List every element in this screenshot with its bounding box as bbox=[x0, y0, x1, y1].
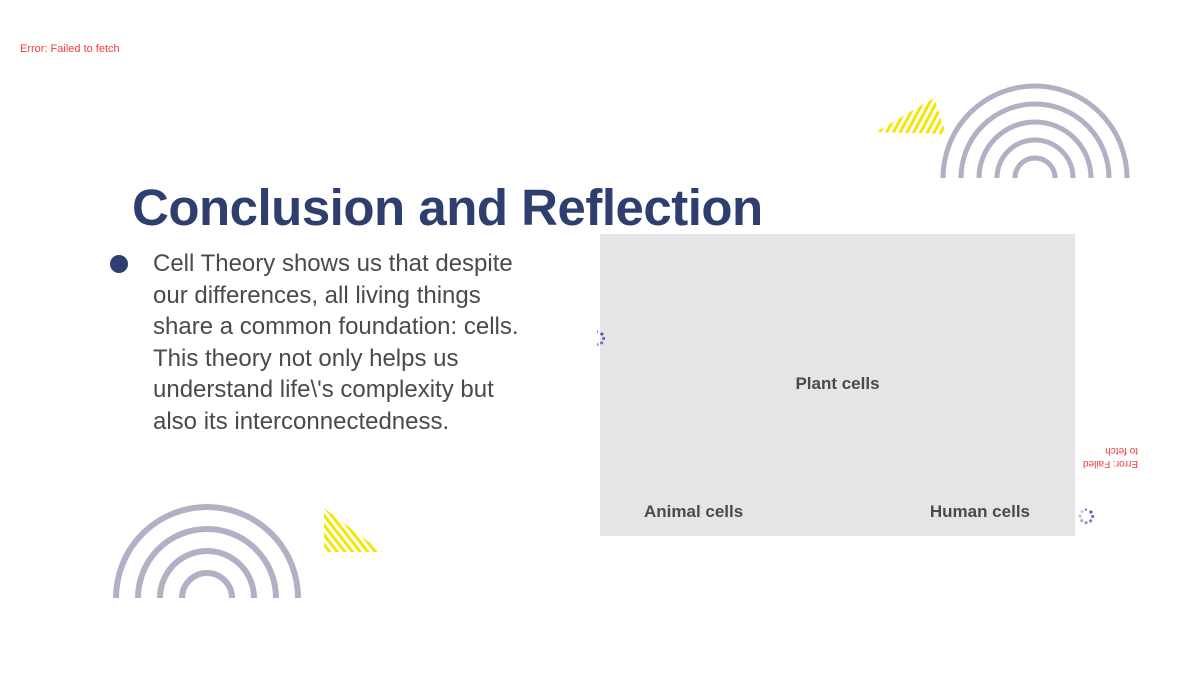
loading-spinner-icon-left bbox=[588, 329, 606, 347]
decorative-striped-triangle-top bbox=[876, 98, 946, 134]
error-message-right-rotated: Error: Failed to fetch bbox=[1078, 444, 1138, 470]
decorative-arcs-top-right bbox=[940, 78, 1130, 178]
decorative-striped-triangle-bottom bbox=[324, 508, 382, 552]
slide-canvas: Error: Failed to fetch Conclusion and Re… bbox=[0, 0, 1200, 675]
page-title: Conclusion and Reflection bbox=[132, 177, 763, 239]
decorative-arcs-bottom-left bbox=[112, 500, 302, 598]
image-label-animal-cells: Animal cells bbox=[644, 502, 743, 522]
image-label-plant-cells: Plant cells bbox=[795, 374, 879, 394]
image-placeholder: Plant cells Animal cells Human cells bbox=[600, 234, 1075, 536]
bullet-list: Cell Theory shows us that despite our di… bbox=[110, 248, 540, 437]
image-label-human-cells: Human cells bbox=[930, 502, 1030, 522]
error-message-top: Error: Failed to fetch bbox=[20, 42, 120, 56]
bullet-dot-icon bbox=[110, 255, 128, 273]
loading-spinner-icon-right bbox=[1077, 507, 1095, 525]
bullet-item-text: Cell Theory shows us that despite our di… bbox=[153, 248, 540, 437]
